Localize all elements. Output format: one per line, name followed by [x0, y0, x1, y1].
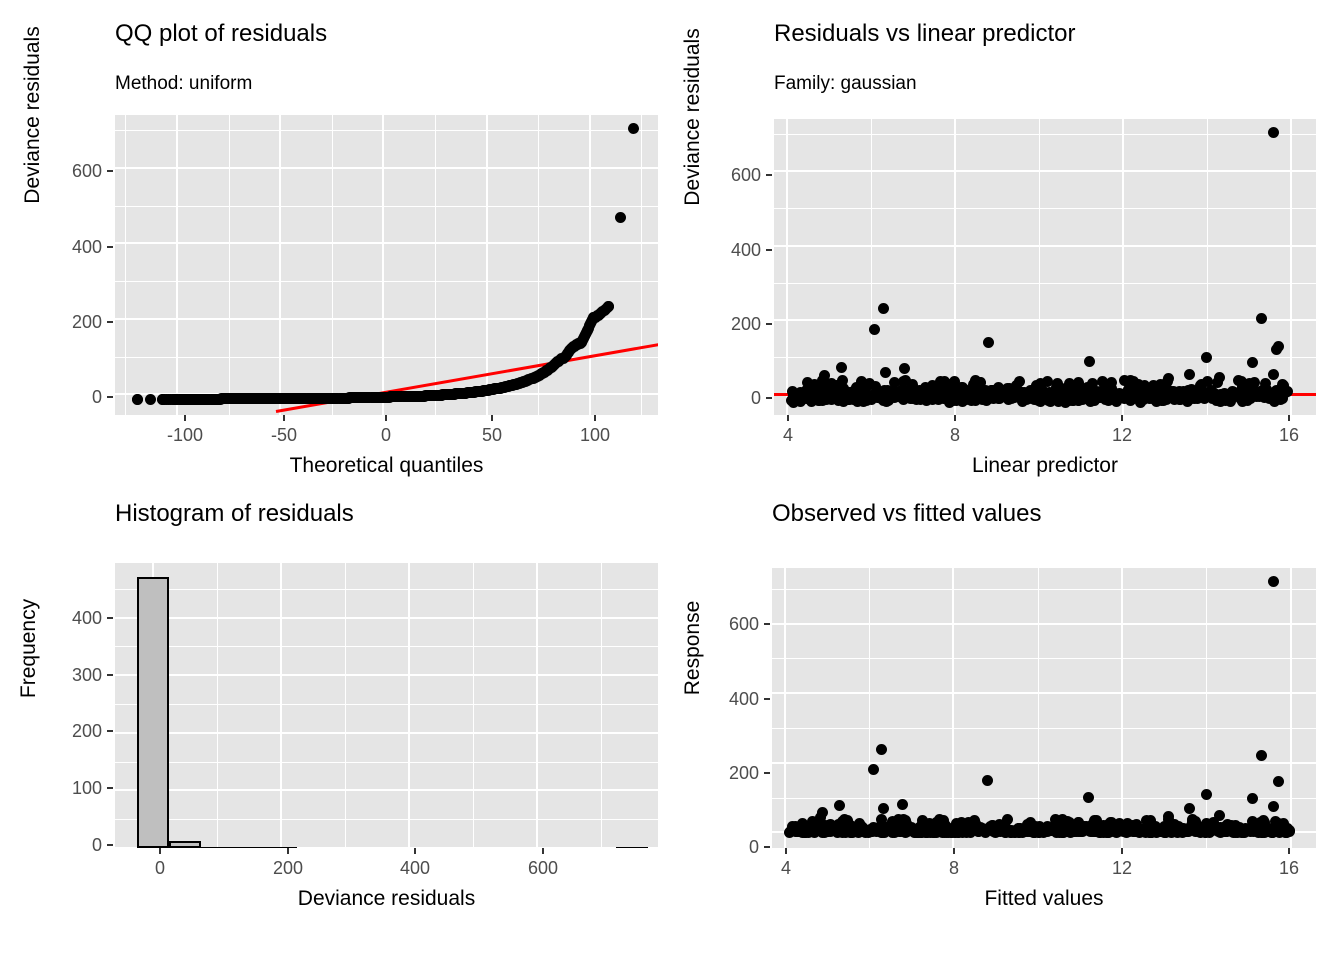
qq-xtick-100: [594, 415, 596, 421]
gridline-minor-horizontal: [772, 589, 1316, 590]
residual-outlier-point: [1214, 372, 1225, 383]
histogram-bar: [233, 847, 265, 848]
histogram-bar: [616, 847, 648, 848]
qq-plot-area: [115, 115, 658, 415]
observed-point: [977, 823, 988, 834]
ovf-ylabel-600: 600: [707, 615, 759, 633]
gridline-major-vertical: [536, 563, 538, 848]
qq-ytick-0: [107, 396, 113, 398]
residual-point: [1011, 380, 1022, 391]
rlp-xtick-12: [1121, 415, 1123, 421]
rlp-ylabel-200: 200: [709, 315, 761, 333]
residual-outlier-point: [1184, 369, 1195, 380]
gridline-major-horizontal: [115, 167, 658, 169]
gridline-minor-horizontal: [115, 589, 658, 590]
residual-point: [1278, 380, 1289, 391]
observed-outlier-point: [878, 803, 889, 814]
qq-y-axis-title: Deviance residuals: [22, 0, 43, 265]
rlp-y-axis-title: Deviance residuals: [682, 0, 703, 267]
residuals-plot-title: Residuals vs linear predictor: [774, 22, 1075, 46]
gridline-minor-vertical: [601, 563, 602, 848]
gridline-minor-horizontal: [772, 728, 1316, 729]
residual-outlier-point: [817, 375, 828, 386]
hist-y-axis-title: Frequency: [18, 506, 39, 791]
gridline-major-horizontal: [115, 617, 658, 619]
residual-outlier-point: [1268, 369, 1279, 380]
qq-xtick-50: [491, 415, 493, 421]
qq-ytick-400: [107, 246, 113, 248]
ovf-xtick-12: [1121, 848, 1123, 854]
qq-ylabel-400: 400: [50, 238, 102, 256]
residuals-plot-area: [774, 119, 1316, 415]
qq-data-point: [628, 123, 639, 134]
residual-point: [970, 375, 981, 386]
rlp-xtick-4: [787, 415, 789, 421]
observed-point: [839, 814, 850, 825]
gridline-major-horizontal: [774, 319, 1316, 321]
observed-outlier-point: [1163, 811, 1174, 822]
observed-point: [1012, 825, 1023, 836]
ovf-x-axis-title: Fitted values: [772, 888, 1316, 909]
qq-xlabel-m100: -100: [145, 426, 225, 444]
observed-outlier-point: [868, 764, 879, 775]
hist-ylabel-100: 100: [45, 779, 102, 797]
rlp-ylabel-600: 600: [709, 166, 761, 184]
qq-data-point: [615, 212, 626, 223]
gridline-minor-vertical: [869, 568, 870, 848]
ovf-ytick-400: [764, 698, 770, 700]
residual-outlier-point: [1201, 352, 1212, 363]
ovf-ytick-0: [764, 846, 770, 848]
ovf-y-axis-title: Response: [682, 508, 703, 788]
gridline-minor-horizontal: [115, 819, 658, 820]
hist-ylabel-400: 400: [45, 609, 102, 627]
histogram-bar: [169, 841, 201, 848]
qq-data-point: [582, 325, 593, 336]
gridline-major-vertical: [954, 119, 956, 415]
gridline-major-vertical: [952, 568, 954, 848]
qq-ylabel-0: 0: [50, 388, 102, 406]
qq-xtick-m100: [184, 415, 186, 421]
hist-x-axis-title: Deviance residuals: [115, 888, 658, 909]
hist-ylabel-200: 200: [45, 722, 102, 740]
observed-outlier-point: [982, 775, 993, 786]
gridline-major-horizontal: [115, 318, 658, 320]
ovf-xlabel-16: 16: [1249, 859, 1329, 877]
gridline-minor-vertical: [1038, 568, 1039, 848]
gridline-minor-horizontal: [774, 357, 1316, 358]
qq-xtick-0: [385, 415, 387, 421]
observed-outlier-point: [1201, 789, 1212, 800]
gridline-minor-vertical: [229, 115, 230, 415]
residual-outlier-point: [1271, 344, 1282, 355]
qq-xtick-m50: [283, 415, 285, 421]
gridline-major-vertical: [408, 563, 410, 848]
residual-point: [986, 385, 997, 396]
hist-xlabel-200: 200: [248, 859, 328, 877]
qq-xlabel-100: 100: [555, 426, 635, 444]
observed-point: [1034, 821, 1045, 832]
ovf-xtick-4: [785, 848, 787, 854]
gridline-minor-horizontal: [774, 134, 1316, 135]
residual-outlier-point: [836, 362, 847, 373]
observed-outlier-point: [1214, 810, 1225, 821]
observed-point: [994, 819, 1005, 830]
hist-xtick-400: [414, 848, 416, 854]
hist-ytick-400: [107, 617, 113, 619]
panel-residuals-vs-linear-predictor: Residuals vs linear predictor Family: ga…: [672, 0, 1344, 480]
qq-ytick-200: [107, 321, 113, 323]
observed-point: [1048, 823, 1059, 834]
gridline-minor-horizontal: [772, 798, 1316, 799]
ovf-xtick-16: [1288, 848, 1290, 854]
qq-data-point: [576, 337, 587, 348]
residual-point: [1097, 376, 1108, 387]
histogram-bar: [201, 847, 233, 848]
hist-ylabel-0: 0: [45, 836, 102, 854]
observed-outlier-point: [1273, 776, 1284, 787]
residual-outlier-point: [1247, 357, 1258, 368]
histogram-bar: [265, 847, 297, 848]
gridline-major-vertical: [1290, 119, 1292, 415]
observed-outlier-point: [1247, 793, 1258, 804]
hist-ytick-0: [107, 844, 113, 846]
residual-outlier-point: [869, 324, 880, 335]
residual-outlier-point: [878, 303, 889, 314]
qq-xlabel-50: 50: [452, 426, 532, 444]
gridline-major-vertical: [1290, 568, 1292, 848]
residual-point: [920, 384, 931, 395]
ovf-xtick-8: [953, 848, 955, 854]
qq-plot-subtitle: Method: uniform: [115, 74, 252, 93]
gridline-major-vertical: [784, 568, 786, 848]
plot-grid: QQ plot of residuals Method: uniform 0 2…: [0, 0, 1344, 960]
gridline-minor-vertical: [1206, 568, 1207, 848]
gridline-minor-vertical: [1207, 119, 1208, 415]
residual-point: [1148, 380, 1159, 391]
gridline-minor-vertical: [1039, 119, 1040, 415]
observed-point: [1201, 818, 1212, 829]
ovf-ytick-200: [764, 772, 770, 774]
rlp-xlabel-12: 12: [1082, 426, 1162, 444]
qq-plot-title: QQ plot of residuals: [115, 22, 327, 46]
qq-data-point: [603, 301, 614, 312]
hist-ytick-200: [107, 730, 113, 732]
ovf-xlabel-8: 8: [914, 859, 994, 877]
hist-xtick-200: [287, 848, 289, 854]
gridline-major-horizontal: [774, 245, 1316, 247]
gridline-major-horizontal: [115, 732, 658, 734]
residual-outlier-point: [880, 367, 891, 378]
gridline-major-vertical: [279, 115, 281, 415]
observed-outlier-point: [1083, 792, 1094, 803]
residual-outlier-point: [1256, 313, 1267, 324]
residual-outlier-point: [899, 363, 910, 374]
observed-point: [951, 818, 962, 829]
gridline-major-vertical: [176, 115, 178, 415]
gridline-minor-vertical: [473, 563, 474, 848]
gridline-minor-horizontal: [115, 704, 658, 705]
rlp-ytick-0: [766, 397, 772, 399]
observed-outlier-point: [1268, 576, 1279, 587]
residual-outlier-point: [1084, 356, 1095, 367]
residual-point: [882, 385, 893, 396]
rlp-ytick-400: [766, 249, 772, 251]
qq-ylabel-200: 200: [50, 313, 102, 331]
gridline-minor-horizontal: [115, 762, 658, 763]
gridline-major-vertical: [1122, 119, 1124, 415]
ovf-xlabel-12: 12: [1082, 859, 1162, 877]
panel-observed-vs-fitted: Observed vs fitted values 0 200 400 600 …: [672, 480, 1344, 960]
gridline-major-horizontal: [772, 762, 1316, 764]
rlp-xlabel-16: 16: [1249, 426, 1329, 444]
rlp-ylabel-400: 400: [709, 241, 761, 259]
observed-outlier-point: [834, 800, 845, 811]
qq-data-point: [132, 394, 143, 405]
qq-data-point: [157, 394, 168, 405]
gridline-minor-horizontal: [115, 130, 658, 131]
ovf-xlabel-4: 4: [746, 859, 826, 877]
hist-ytick-300: [107, 674, 113, 676]
histogram-plot-area: [115, 563, 658, 848]
gridline-major-horizontal: [115, 674, 658, 676]
gridline-minor-horizontal: [774, 208, 1316, 209]
gridline-major-vertical: [382, 115, 384, 415]
gridline-major-horizontal: [772, 623, 1316, 625]
observed-outlier-point: [1268, 801, 1279, 812]
gridline-minor-horizontal: [115, 646, 658, 647]
residual-point: [1186, 384, 1197, 395]
qq-data-point: [145, 394, 156, 405]
qq-xlabel-m50: -50: [244, 426, 324, 444]
observed-point: [898, 814, 909, 825]
residual-point: [981, 395, 992, 406]
gridline-major-vertical: [280, 563, 282, 848]
gridline-major-horizontal: [772, 692, 1316, 694]
gridline-major-horizontal: [115, 789, 658, 791]
observed-point: [1091, 815, 1102, 826]
panel-histogram-of-residuals: Histogram of residuals 0 100 200 300 400…: [0, 480, 672, 960]
hist-xtick-600: [542, 848, 544, 854]
gridline-minor-vertical: [125, 115, 126, 415]
residual-outlier-point: [1268, 127, 1279, 138]
rlp-ylabel-0: 0: [709, 389, 761, 407]
residual-point: [898, 376, 909, 387]
gridline-major-vertical: [1121, 568, 1123, 848]
residual-point: [851, 382, 862, 393]
gridline-major-vertical: [786, 119, 788, 415]
observed-outlier-point: [1184, 803, 1195, 814]
rlp-xlabel-4: 4: [748, 426, 828, 444]
rlp-ytick-200: [766, 323, 772, 325]
residuals-plot-subtitle: Family: gaussian: [774, 74, 917, 93]
qq-ytick-600: [107, 170, 113, 172]
rlp-xtick-8: [954, 415, 956, 421]
panel-qq-plot: QQ plot of residuals Method: uniform 0 2…: [0, 0, 672, 480]
gridline-major-horizontal: [774, 170, 1316, 172]
qq-ylabel-600: 600: [50, 162, 102, 180]
rlp-x-axis-title: Linear predictor: [774, 455, 1316, 476]
gridline-minor-vertical: [641, 115, 642, 415]
gridline-major-horizontal: [115, 242, 658, 244]
hist-xlabel-400: 400: [375, 859, 455, 877]
gridline-minor-horizontal: [772, 658, 1316, 659]
gridline-minor-vertical: [871, 119, 872, 415]
gridline-minor-vertical: [217, 563, 218, 848]
histogram-title: Histogram of residuals: [115, 502, 354, 526]
gridline-minor-vertical: [332, 115, 333, 415]
gridline-minor-vertical: [345, 563, 346, 848]
ovf-ytick-600: [764, 623, 770, 625]
hist-ylabel-300: 300: [45, 666, 102, 684]
observed-outlier-point: [897, 799, 908, 810]
gridline-minor-horizontal: [774, 283, 1316, 284]
gridline-major-vertical: [486, 115, 488, 415]
rlp-xlabel-8: 8: [915, 426, 995, 444]
residual-point: [1070, 381, 1081, 392]
gridline-major-vertical: [589, 115, 591, 415]
observed-outlier-point: [1256, 750, 1267, 761]
rlp-xtick-16: [1288, 415, 1290, 421]
hist-xtick-0: [159, 848, 161, 854]
qq-xlabel-0: 0: [346, 426, 426, 444]
residual-point: [1144, 393, 1155, 404]
rlp-ytick-600: [766, 174, 772, 176]
gridline-minor-horizontal: [115, 281, 658, 282]
observed-fitted-title: Observed vs fitted values: [772, 502, 1041, 526]
observed-point: [1247, 816, 1258, 827]
observed-outlier-point: [876, 744, 887, 755]
gridline-minor-vertical: [435, 115, 436, 415]
hist-xlabel-0: 0: [120, 859, 200, 877]
ovf-ylabel-400: 400: [707, 690, 759, 708]
hist-ytick-100: [107, 787, 113, 789]
qq-x-axis-title: Theoretical quantiles: [115, 455, 658, 476]
observed-fitted-plot-area: [772, 568, 1316, 848]
residual-point: [838, 383, 849, 394]
residual-outlier-point: [983, 337, 994, 348]
histogram-bar: [137, 577, 169, 848]
ovf-ylabel-0: 0: [707, 838, 759, 856]
gridline-minor-horizontal: [115, 206, 658, 207]
ovf-ylabel-200: 200: [707, 764, 759, 782]
hist-xlabel-600: 600: [503, 859, 583, 877]
